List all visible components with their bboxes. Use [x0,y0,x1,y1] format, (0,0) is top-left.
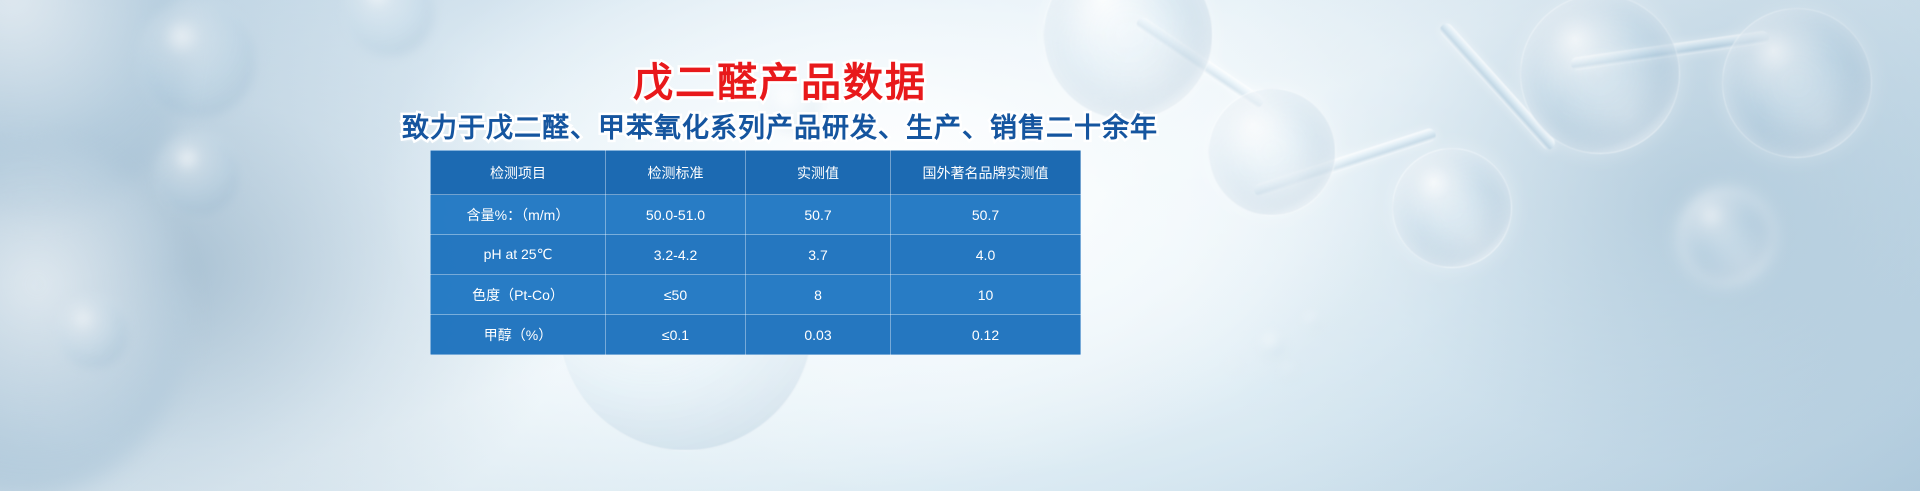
table-row: 含量%：（m/m） 50.0-51.0 50.7 50.7 [431,195,1081,235]
table-cell-item: 甲醇（%） [431,315,606,355]
page-subtitle: 致力于戊二醛、甲苯氧化系列产品研发、生产、销售二十余年 [0,106,1560,145]
spec-table-wrapper: 检测项目 检测标准 实测值 国外著名品牌实测值 含量%：（m/m） 50.0-5… [430,150,1080,355]
table-cell-measured: 3.7 [746,235,891,275]
table-cell-item: 色度（Pt-Co） [431,275,606,315]
table-row: 色度（Pt-Co） ≤50 8 10 [431,275,1081,315]
table-cell-foreign: 0.12 [891,315,1081,355]
table-header-cell: 实测值 [746,151,891,195]
table-cell-foreign: 4.0 [891,235,1081,275]
table-cell-foreign: 10 [891,275,1081,315]
table-cell-standard: 3.2-4.2 [606,235,746,275]
page-title: 戊二醛产品数据 [0,50,1560,108]
table-header-cell: 国外著名品牌实测值 [891,151,1081,195]
table-header-cell: 检测项目 [431,151,606,195]
table-cell-standard: ≤50 [606,275,746,315]
table-cell-measured: 0.03 [746,315,891,355]
table-cell-standard: 50.0-51.0 [606,195,746,235]
table-cell-item: pH at 25℃ [431,235,606,275]
product-data-banner: 戊二醛产品数据 致力于戊二醛、甲苯氧化系列产品研发、生产、销售二十余年 检测项目… [0,0,1920,491]
table-cell-measured: 50.7 [746,195,891,235]
table-cell-item: 含量%：（m/m） [431,195,606,235]
table-row: 甲醇（%） ≤0.1 0.03 0.12 [431,315,1081,355]
table-cell-standard: ≤0.1 [606,315,746,355]
table-header-row: 检测项目 检测标准 实测值 国外著名品牌实测值 [431,151,1081,195]
table-header-cell: 检测标准 [606,151,746,195]
table-cell-measured: 8 [746,275,891,315]
table-cell-foreign: 50.7 [891,195,1081,235]
product-spec-table: 检测项目 检测标准 实测值 国外著名品牌实测值 含量%：（m/m） 50.0-5… [430,150,1081,355]
banner-content: 戊二醛产品数据 致力于戊二醛、甲苯氧化系列产品研发、生产、销售二十余年 检测项目… [0,0,1920,491]
table-row: pH at 25℃ 3.2-4.2 3.7 4.0 [431,235,1081,275]
